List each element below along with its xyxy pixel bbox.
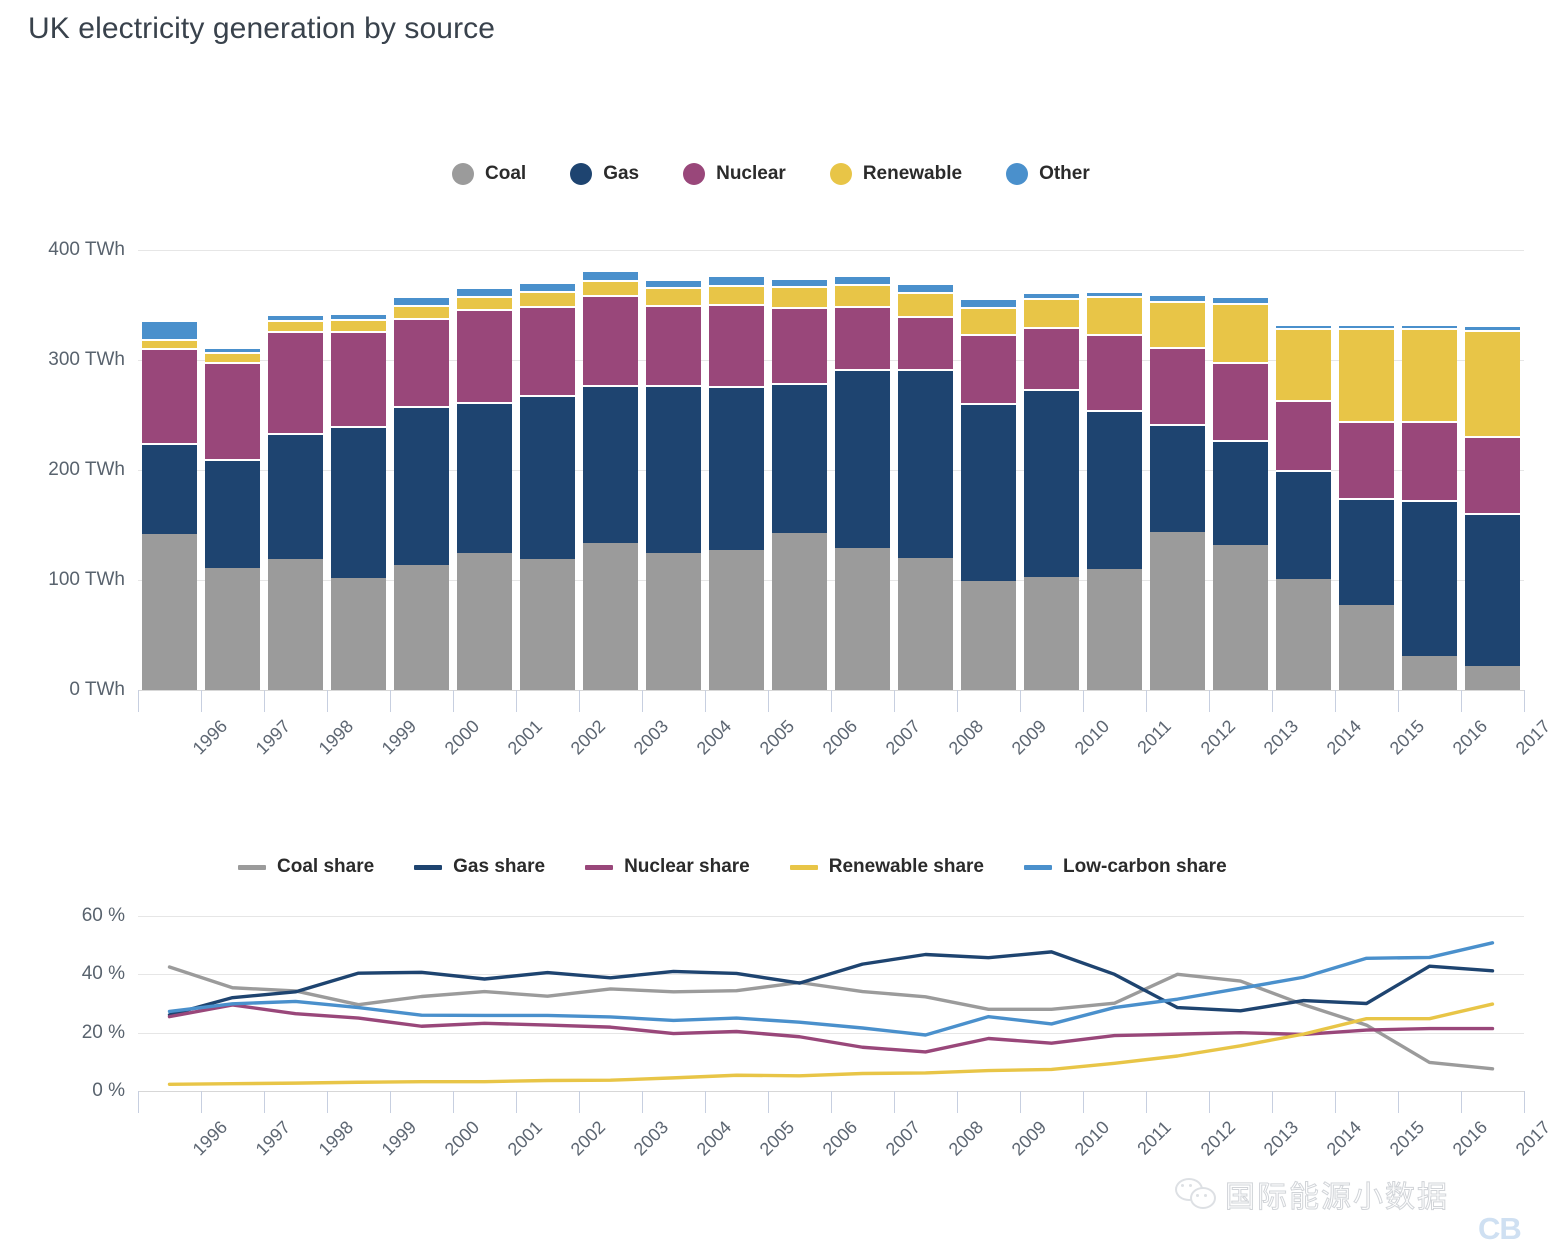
bar-column[interactable] (583, 250, 638, 690)
legend-shares: Coal shareGas shareNuclear shareRenewabl… (238, 856, 1227, 878)
line-low-carbon-share[interactable] (170, 943, 1493, 1035)
x-tick-mark (201, 1091, 202, 1113)
y-tick-label: 300 TWh (48, 349, 125, 371)
bar-segment-nuclear[interactable] (1339, 421, 1394, 498)
bar-segment-gas[interactable] (1087, 410, 1142, 570)
x-tick-mark (264, 690, 265, 712)
bar-segment-gas[interactable] (961, 403, 1016, 581)
bar-column[interactable] (142, 250, 197, 690)
bar-segment-renewable[interactable] (709, 285, 764, 304)
circle-marker (452, 163, 474, 185)
x-tick-mark (516, 690, 517, 712)
watermark: 国际能源小数据 (1175, 1172, 1449, 1216)
bar-segment-renewable[interactable] (268, 320, 323, 331)
line-marker (414, 865, 442, 870)
bar-segment-coal[interactable] (142, 534, 197, 690)
bar-segment-other[interactable] (709, 275, 764, 285)
bar-segment-other[interactable] (1339, 324, 1394, 328)
bar-segment-coal[interactable] (709, 550, 764, 690)
x-tick-mark (642, 690, 643, 712)
bar-segment-renewable[interactable] (1213, 303, 1268, 362)
legend-generation: CoalGasNuclearRenewableOther (452, 163, 1090, 185)
bar-segment-other[interactable] (268, 314, 323, 321)
x-tick-label: 2001 (504, 1117, 547, 1160)
line-renewable-share[interactable] (170, 1004, 1493, 1084)
bar-segment-renewable[interactable] (331, 319, 386, 331)
bar-column[interactable] (1339, 250, 1394, 690)
y-tick-label: 400 TWh (48, 239, 125, 261)
bar-segment-renewable[interactable] (961, 307, 1016, 333)
legend-label: Coal share (277, 856, 374, 878)
x-tick-mark (327, 1091, 328, 1113)
x-tick-label: 2007 (882, 716, 925, 759)
circle-marker (570, 163, 592, 185)
bar-segment-nuclear[interactable] (1276, 400, 1331, 470)
legend-item-other[interactable]: Other (1006, 163, 1090, 185)
x-tick-label: 2002 (567, 1117, 610, 1160)
bar-column[interactable] (394, 250, 449, 690)
bar-segment-other[interactable] (835, 275, 890, 284)
x-tick-mark (831, 690, 832, 712)
bar-column[interactable] (772, 250, 827, 690)
bar-segment-other[interactable] (1465, 325, 1520, 331)
x-tick-label: 2010 (1071, 1117, 1114, 1160)
x-tick-label: 2009 (1008, 1117, 1051, 1160)
x-tick-mark (768, 690, 769, 712)
bar-segment-other[interactable] (898, 283, 953, 292)
bar-segment-nuclear[interactable] (1024, 327, 1079, 389)
bar-segment-coal[interactable] (583, 543, 638, 690)
bar-segment-other[interactable] (331, 313, 386, 320)
x-tick-mark (894, 690, 895, 712)
bar-segment-coal[interactable] (205, 568, 260, 690)
x-tick-label: 1997 (252, 716, 295, 759)
bar-segment-renewable[interactable] (772, 286, 827, 307)
bar-segment-nuclear[interactable] (1213, 362, 1268, 440)
y-tick-label: 0 TWh (69, 679, 125, 701)
bar-column[interactable] (1402, 250, 1457, 690)
x-tick-mark (957, 690, 958, 712)
x-tick-label: 2006 (819, 716, 862, 759)
bar-column[interactable] (1024, 250, 1079, 690)
x-tick-label: 1999 (378, 716, 421, 759)
bar-segment-nuclear[interactable] (268, 331, 323, 432)
bar-segment-renewable[interactable] (1087, 296, 1142, 333)
x-tick-label: 1996 (189, 716, 232, 759)
bar-column[interactable] (268, 250, 323, 690)
bar-segment-gas[interactable] (331, 426, 386, 578)
bar-segment-renewable[interactable] (394, 305, 449, 318)
x-tick-label: 2016 (1449, 1117, 1492, 1160)
bar-segment-nuclear[interactable] (331, 331, 386, 426)
x-tick-label: 2004 (693, 716, 736, 759)
bar-segment-gas[interactable] (898, 369, 953, 558)
x-tick-mark (1335, 1091, 1336, 1113)
bar-column[interactable] (1276, 250, 1331, 690)
x-tick-label: 2006 (819, 1117, 862, 1160)
x-tick-label: 2008 (945, 1117, 988, 1160)
x-tick-mark (768, 1091, 769, 1113)
bar-column[interactable] (331, 250, 386, 690)
x-tick-mark (1461, 1091, 1462, 1113)
legend-label: Coal (485, 163, 526, 185)
watermark-text: 国际能源小数据 (1225, 1172, 1449, 1216)
bar-segment-coal[interactable] (961, 581, 1016, 690)
bar-segment-other[interactable] (1087, 291, 1142, 297)
bar-segment-renewable[interactable] (520, 291, 575, 306)
x-tick-label: 2008 (945, 716, 988, 759)
bar-column[interactable] (457, 250, 512, 690)
line-marker (790, 865, 818, 870)
x-tick-mark (705, 690, 706, 712)
x-tick-label: 2001 (504, 716, 547, 759)
bar-segment-coal[interactable] (520, 559, 575, 690)
bar-segment-nuclear[interactable] (1465, 436, 1520, 513)
legend-label: Low-carbon share (1063, 856, 1227, 878)
legend-item-renewable-share[interactable]: Renewable share (790, 856, 984, 878)
x-tick-label: 2005 (756, 1117, 799, 1160)
bar-segment-gas[interactable] (772, 383, 827, 533)
legend-item-nuclear-share[interactable]: Nuclear share (585, 856, 750, 878)
bar-segment-gas[interactable] (394, 406, 449, 564)
line-gas-share[interactable] (170, 952, 1493, 1015)
bar-segment-gas[interactable] (1402, 500, 1457, 656)
bar-segment-renewable[interactable] (1402, 328, 1457, 420)
cb-logo: CB (1478, 1213, 1521, 1244)
x-tick-label: 2014 (1323, 716, 1366, 759)
bar-segment-coal[interactable] (1024, 577, 1079, 690)
bar-segment-gas[interactable] (1276, 470, 1331, 579)
bar-segment-other[interactable] (142, 320, 197, 339)
x-tick-mark (1398, 690, 1399, 712)
bar-segment-renewable[interactable] (583, 280, 638, 295)
x-tick-mark (1272, 690, 1273, 712)
y-tick-label: 200 TWh (48, 459, 125, 481)
bar-segment-gas[interactable] (205, 459, 260, 568)
generation-bar-chart: 0 TWh100 TWh200 TWh300 TWh400 TWh (138, 250, 1524, 690)
legend-label: Gas share (453, 856, 545, 878)
x-tick-label: 2011 (1133, 716, 1175, 758)
x-tick-mark (1524, 690, 1525, 712)
x-tick-mark (1083, 1091, 1084, 1113)
bar-segment-gas[interactable] (1213, 440, 1268, 545)
bar-segment-coal[interactable] (268, 559, 323, 690)
bar-segment-gas[interactable] (457, 402, 512, 553)
legend-item-coal[interactable]: Coal (452, 163, 526, 185)
bar-segment-nuclear[interactable] (394, 318, 449, 406)
x-tick-label: 1996 (189, 1117, 232, 1160)
bar-column[interactable] (520, 250, 575, 690)
x-tick-mark (390, 1091, 391, 1113)
bar-column[interactable] (1150, 250, 1205, 690)
legend-label: Renewable share (829, 856, 984, 878)
x-tick-label: 2012 (1197, 716, 1240, 759)
bar-segment-other[interactable] (961, 298, 1016, 307)
bar-segment-renewable[interactable] (1465, 330, 1520, 436)
bar-segment-other[interactable] (1150, 294, 1205, 301)
x-tick-label: 1997 (252, 1117, 295, 1160)
legend-label: Other (1039, 163, 1090, 185)
bar-segment-gas[interactable] (709, 386, 764, 550)
bar-segment-renewable[interactable] (457, 296, 512, 309)
line-marker (238, 865, 266, 870)
x-tick-label: 2015 (1386, 1117, 1429, 1160)
x-tick-mark (1461, 690, 1462, 712)
circle-marker (830, 163, 852, 185)
bar-segment-renewable[interactable] (835, 284, 890, 306)
bar-segment-other[interactable] (1024, 292, 1079, 299)
x-tick-label: 2012 (1197, 1117, 1240, 1160)
x-tick-label: 2003 (630, 1117, 673, 1160)
x-tick-mark (831, 1091, 832, 1113)
bar-segment-coal[interactable] (331, 578, 386, 690)
bar-segment-coal[interactable] (646, 553, 701, 691)
bar-segment-other[interactable] (394, 296, 449, 305)
x-tick-label: 2017 (1512, 1117, 1550, 1160)
x-tick-label: 2009 (1008, 716, 1051, 759)
bar-segment-nuclear[interactable] (583, 295, 638, 385)
line-marker (585, 865, 613, 870)
bar-segment-coal[interactable] (1276, 579, 1331, 690)
bar-segment-nuclear[interactable] (961, 334, 1016, 403)
line-plot-area: 0 %20 %40 %60 % (138, 916, 1524, 1091)
x-tick-mark (705, 1091, 706, 1113)
circle-marker (1006, 163, 1028, 185)
bar-column[interactable] (709, 250, 764, 690)
x-tick-mark (1209, 690, 1210, 712)
y-tick-label: 60 % (82, 905, 125, 927)
bar-segment-gas[interactable] (646, 385, 701, 552)
x-tick-label: 2013 (1260, 1117, 1303, 1160)
bar-segment-renewable[interactable] (646, 287, 701, 305)
line-chart-x-axis: 1996199719981999200020012002200320042005… (138, 1091, 1524, 1181)
x-tick-label: 2014 (1323, 1117, 1366, 1160)
bar-segment-other[interactable] (457, 287, 512, 296)
bar-segment-gas[interactable] (520, 395, 575, 559)
bar-segment-gas[interactable] (1465, 513, 1520, 666)
bar-segment-coal[interactable] (1402, 656, 1457, 690)
bar-column[interactable] (646, 250, 701, 690)
bar-segment-coal[interactable] (772, 533, 827, 690)
bar-segment-other[interactable] (1276, 324, 1331, 328)
bar-segment-other[interactable] (520, 282, 575, 291)
bar-segment-other[interactable] (1402, 324, 1457, 328)
bar-segment-coal[interactable] (1213, 545, 1268, 690)
bar-column[interactable] (1213, 250, 1268, 690)
x-tick-mark (201, 690, 202, 712)
bar-segment-renewable[interactable] (142, 339, 197, 348)
x-tick-label: 1998 (315, 716, 358, 759)
x-tick-mark (1146, 690, 1147, 712)
legend-item-low-carbon-share[interactable]: Low-carbon share (1024, 856, 1227, 878)
bar-segment-nuclear[interactable] (520, 306, 575, 395)
bar-chart-x-axis: 1996199719981999200020012002200320042005… (138, 690, 1524, 780)
bar-segment-nuclear[interactable] (1150, 347, 1205, 424)
x-tick-label: 2000 (441, 1117, 484, 1160)
legend-label: Gas (603, 163, 639, 185)
x-tick-mark (1020, 1091, 1021, 1113)
bar-segment-other[interactable] (583, 270, 638, 280)
legend-label: Renewable (863, 163, 962, 185)
bar-column[interactable] (835, 250, 890, 690)
bar-segment-nuclear[interactable] (898, 316, 953, 369)
bar-column[interactable] (1087, 250, 1142, 690)
bar-segment-nuclear[interactable] (142, 348, 197, 443)
x-tick-label: 2015 (1386, 716, 1429, 759)
bar-segment-renewable[interactable] (1339, 328, 1394, 420)
x-tick-label: 1999 (378, 1117, 421, 1160)
bar-segment-nuclear[interactable] (772, 307, 827, 383)
x-tick-mark (1209, 1091, 1210, 1113)
bar-segment-coal[interactable] (1465, 666, 1520, 690)
x-tick-mark (579, 690, 580, 712)
bar-column[interactable] (961, 250, 1016, 690)
x-tick-mark (390, 690, 391, 712)
bar-column[interactable] (1465, 250, 1520, 690)
x-tick-mark (579, 1091, 580, 1113)
x-tick-mark (1272, 1091, 1273, 1113)
y-tick-label: 100 TWh (48, 569, 125, 591)
x-tick-mark (894, 1091, 895, 1113)
bar-segment-nuclear[interactable] (835, 306, 890, 369)
bar-segment-gas[interactable] (1150, 424, 1205, 532)
line-marker (1024, 865, 1052, 870)
bar-segment-other[interactable] (205, 347, 260, 353)
page-title: UK electricity generation by source (28, 12, 495, 46)
legend-item-renewable[interactable]: Renewable (830, 163, 962, 185)
circle-marker (683, 163, 705, 185)
x-tick-label: 2017 (1512, 716, 1550, 759)
bar-segment-other[interactable] (772, 278, 827, 287)
x-tick-mark (264, 1091, 265, 1113)
bar-plot-area: 0 TWh100 TWh200 TWh300 TWh400 TWh (138, 250, 1524, 690)
bar-segment-coal[interactable] (457, 553, 512, 691)
x-tick-label: 1998 (315, 1117, 358, 1160)
bar-segment-coal[interactable] (1150, 532, 1205, 690)
bar-column[interactable] (898, 250, 953, 690)
line-series-group (138, 916, 1524, 1091)
x-tick-label: 2003 (630, 716, 673, 759)
x-tick-label: 2013 (1260, 716, 1303, 759)
legend-label: Nuclear share (624, 856, 750, 878)
x-tick-label: 2004 (693, 1117, 736, 1160)
bar-segment-other[interactable] (1213, 296, 1268, 303)
bar-segment-gas[interactable] (1024, 389, 1079, 577)
x-tick-label: 2011 (1133, 1117, 1175, 1159)
wechat-icon (1175, 1178, 1215, 1210)
x-tick-mark (1398, 1091, 1399, 1113)
bar-segment-nuclear[interactable] (1402, 421, 1457, 500)
x-tick-label: 2010 (1071, 716, 1114, 759)
bar-segment-renewable[interactable] (1276, 328, 1331, 400)
x-tick-mark (1083, 690, 1084, 712)
legend-label: Nuclear (716, 163, 786, 185)
x-tick-mark (327, 690, 328, 712)
x-tick-mark (1020, 690, 1021, 712)
legend-item-coal-share[interactable]: Coal share (238, 856, 374, 878)
x-tick-mark (516, 1091, 517, 1113)
bar-column[interactable] (205, 250, 260, 690)
x-tick-mark (138, 1091, 139, 1113)
x-tick-mark (1335, 690, 1336, 712)
x-tick-label: 2007 (882, 1117, 925, 1160)
x-tick-label: 2002 (567, 716, 610, 759)
bar-segment-renewable[interactable] (205, 352, 260, 362)
bar-segment-renewable[interactable] (898, 292, 953, 316)
legend-item-nuclear[interactable]: Nuclear (683, 163, 786, 185)
x-tick-label: 2005 (756, 716, 799, 759)
y-tick-label: 40 % (82, 963, 125, 985)
x-tick-mark (957, 1091, 958, 1113)
y-tick-label: 0 % (92, 1080, 125, 1102)
bar-segment-coal[interactable] (1339, 605, 1394, 690)
bar-segment-coal[interactable] (835, 548, 890, 690)
x-tick-mark (1146, 1091, 1147, 1113)
bar-segment-gas[interactable] (142, 443, 197, 534)
line-nuclear-share[interactable] (170, 1005, 1493, 1052)
x-tick-mark (1524, 1091, 1525, 1113)
x-tick-mark (453, 690, 454, 712)
bar-segment-nuclear[interactable] (646, 305, 701, 385)
bar-segment-gas[interactable] (268, 433, 323, 560)
bar-segment-coal[interactable] (898, 558, 953, 690)
bar-segment-gas[interactable] (1339, 498, 1394, 606)
share-line-chart: 0 %20 %40 %60 % (138, 916, 1524, 1091)
bar-segment-renewable[interactable] (1024, 298, 1079, 327)
x-tick-mark (642, 1091, 643, 1113)
bar-segment-renewable[interactable] (1150, 301, 1205, 347)
legend-item-gas-share[interactable]: Gas share (414, 856, 545, 878)
bar-segment-nuclear[interactable] (205, 362, 260, 459)
bar-segment-coal[interactable] (394, 565, 449, 690)
x-tick-label: 2000 (441, 716, 484, 759)
x-tick-mark (138, 690, 139, 712)
legend-item-gas[interactable]: Gas (570, 163, 639, 185)
bar-segment-gas[interactable] (835, 369, 890, 548)
bar-segment-nuclear[interactable] (457, 309, 512, 401)
bar-segment-coal[interactable] (1087, 569, 1142, 690)
y-tick-label: 20 % (82, 1022, 125, 1044)
x-tick-mark (453, 1091, 454, 1113)
bar-segment-nuclear[interactable] (1087, 334, 1142, 410)
bar-segment-other[interactable] (646, 279, 701, 288)
bar-segment-gas[interactable] (583, 385, 638, 542)
x-tick-label: 2016 (1449, 716, 1492, 759)
bar-segment-nuclear[interactable] (709, 304, 764, 387)
